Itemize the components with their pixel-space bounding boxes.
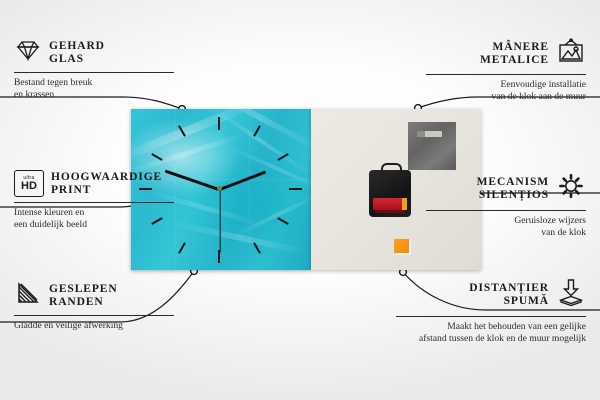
gear-icon (556, 172, 586, 205)
divider (396, 316, 586, 317)
clock-center-hub (217, 186, 222, 191)
feature-description: Gladde en veilige afwerking (14, 320, 174, 332)
divider (426, 74, 586, 75)
feature-title: GEHARD GLAS (49, 40, 105, 65)
foam-spacer (394, 239, 409, 253)
feature-description: Geruisloze wijzers van de klok (426, 215, 586, 238)
diamond-icon (14, 38, 42, 67)
product-infographic: GEHARD GLAS Bestand tegen breuk en krass… (0, 0, 600, 400)
divider (14, 315, 174, 316)
divider (14, 202, 174, 203)
ultra-hd-badge-icon: ultra HD (14, 170, 44, 197)
feature-manere-metalice: MÂNERE METALICE Eenvoudige installatie v… (426, 38, 586, 102)
ultra-hd-large-text: HD (21, 181, 37, 192)
clock-mechanism-box (369, 170, 411, 217)
feature-description: Maakt het behouden van een gelijke afsta… (396, 321, 586, 344)
divider (426, 210, 586, 211)
feature-title: HOOGWAARDIGE PRINT (51, 171, 162, 196)
feature-title: DISTANȚIER SPUMĂ (469, 282, 549, 307)
spacer-arrow-icon (556, 278, 586, 311)
feature-description: Intense kleuren en een duidelijk beeld (14, 207, 174, 230)
feature-description: Bestand tegen breuk en krassen (14, 77, 174, 100)
feature-title: MECANISM SILENȚIOS (477, 176, 549, 201)
divider (14, 72, 174, 73)
picture-frame-hanger-icon (556, 38, 586, 69)
beveled-edges-icon (14, 281, 42, 310)
feature-title: GESLEPEN RANDEN (49, 283, 118, 308)
feature-mecanism-silentios: MECANISM SILENȚIOS Geruisloze wijzers va… (426, 172, 586, 238)
feature-description: Eenvoudige installatie van de klok aan d… (426, 79, 586, 102)
clock-hour-hand (219, 171, 266, 192)
feature-geslepen-randen: GESLEPEN RANDEN Gladde en veilige afwerk… (14, 281, 174, 332)
metal-hanger-plate (408, 122, 456, 170)
feature-gehard-glas: GEHARD GLAS Bestand tegen breuk en krass… (14, 38, 174, 100)
feature-hoogwaardige-print: ultra HD HOOGWAARDIGE PRINT Intense kleu… (14, 170, 174, 230)
feature-distantier-spuma: DISTANȚIER SPUMĂ Maakt het behouden van … (396, 278, 586, 344)
clock-second-hand (219, 190, 220, 253)
feature-title: MÂNERE METALICE (480, 41, 549, 66)
